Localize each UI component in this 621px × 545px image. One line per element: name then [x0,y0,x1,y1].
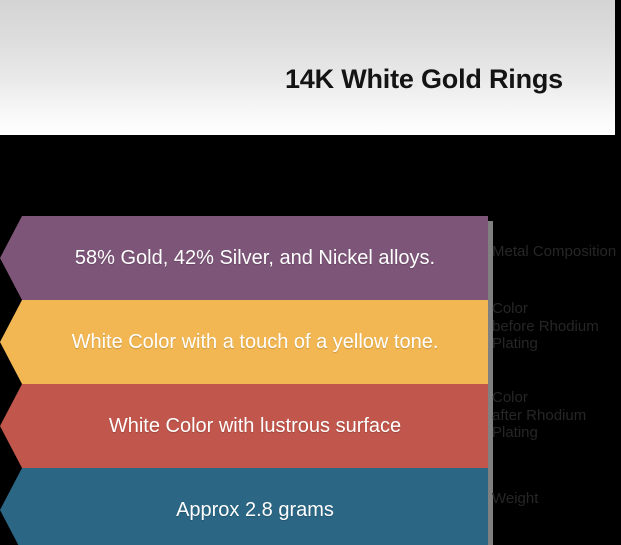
chevron-row[interactable]: White Color with a touch of a yellow ton… [0,300,500,384]
chevron-label: 58% Gold, 42% Silver, and Nickel alloys. [22,216,488,300]
slide-canvas: 14K White Gold Rings 58% Gold, 42% Silve… [0,0,621,545]
chevron-row[interactable]: Approx 2.8 grams [0,468,500,545]
header-band: 14K White Gold Rings [0,0,615,135]
side-caption: Weight [492,490,621,508]
chevron-label: Approx 2.8 grams [22,468,488,545]
chevron-label: White Color with lustrous surface [22,384,488,468]
chevron-label: White Color with a touch of a yellow ton… [22,300,488,384]
chevron-row[interactable]: White Color with lustrous surface [0,384,500,468]
side-caption: Color before Rhodium Plating [492,300,621,353]
side-caption: Metal Composition [492,243,621,261]
chevron-row[interactable]: 58% Gold, 42% Silver, and Nickel alloys. [0,216,500,300]
side-caption: Color after Rhodium Plating [492,389,621,442]
page-title: 14K White Gold Rings [285,66,563,93]
